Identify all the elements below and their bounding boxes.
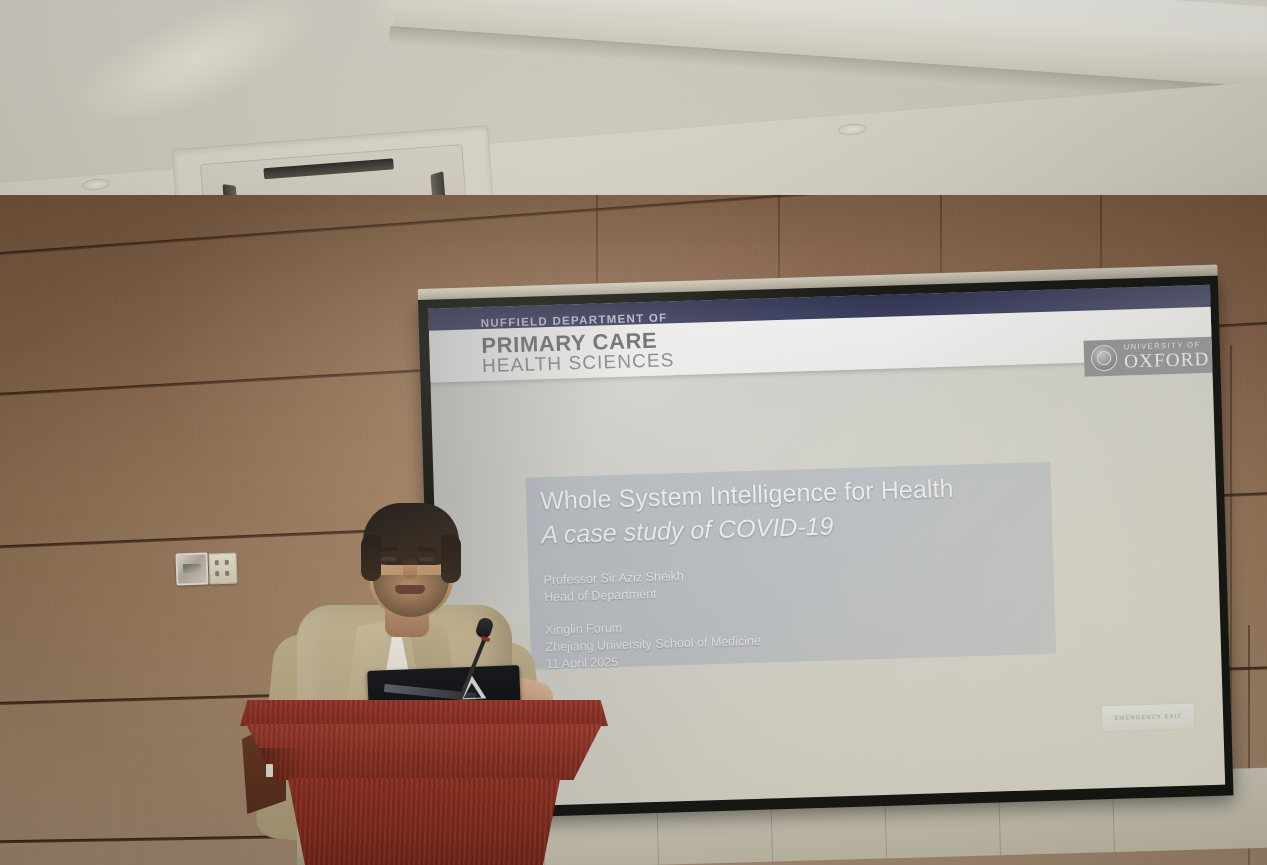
podium-wood-grain	[240, 700, 608, 726]
speaker-eye-right	[419, 557, 434, 561]
presentation-photo: NUFFIELD DEPARTMENT OF PRIMARY CARE HEAL…	[0, 0, 1267, 865]
switch-rocker[interactable]	[225, 560, 229, 565]
av-floor-box-plate[interactable]	[175, 552, 208, 585]
wall-sign-text: EMERGENCY EXIT	[1114, 713, 1182, 721]
oxford-university-name: OXFORD	[1124, 350, 1210, 372]
podium-label-tag	[266, 764, 273, 777]
ceiling-light-glow	[53, 0, 337, 151]
oxford-logo: UNIVERSITY OF OXFORD	[1084, 337, 1213, 377]
speaker-nose	[403, 557, 417, 579]
wall-sign: EMERGENCY EXIT	[1101, 702, 1196, 732]
slide-text-panel: Whole System Intelligence for Health A c…	[525, 462, 1056, 670]
switch-rocker[interactable]	[215, 571, 219, 576]
podium-front-face	[246, 724, 602, 780]
podium	[240, 700, 612, 865]
speaker-hair-right	[441, 535, 461, 583]
light-switch-plate[interactable]	[208, 553, 237, 585]
brand-name-line2: HEALTH SCIENCES	[482, 350, 675, 378]
speaker-mouth	[395, 585, 425, 594]
speaker-eye-left	[381, 557, 396, 561]
switch-rocker[interactable]	[215, 560, 219, 565]
speaker-hair-left	[361, 535, 381, 581]
ac-vent-louver-top	[263, 158, 393, 179]
switch-rocker[interactable]	[225, 571, 229, 576]
oxford-logo-text: UNIVERSITY OF OXFORD	[1124, 341, 1210, 372]
oxford-crest-icon	[1091, 345, 1118, 372]
podium-top-surface	[240, 700, 608, 726]
podium-column	[276, 778, 572, 865]
slide-title: Whole System Intelligence for Health	[540, 475, 954, 517]
podium-wood-grain	[276, 778, 572, 865]
